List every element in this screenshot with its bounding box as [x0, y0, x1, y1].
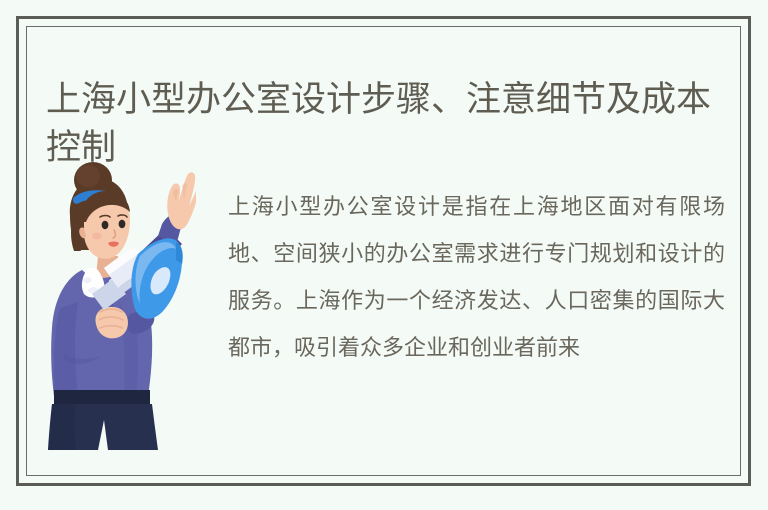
- article-body-text: 上海小型办公室设计是指在上海地区面对有限场地、空间狭小的办公室需求进行专门规划和…: [228, 183, 725, 371]
- raised-hand: [167, 172, 196, 229]
- woman-with-megaphone-illustration: [26, 158, 196, 450]
- article-card-page: 上海小型办公室设计步骤、注意细节及成本控制 上海小型办公室设计是指在上海地区面对…: [0, 0, 768, 510]
